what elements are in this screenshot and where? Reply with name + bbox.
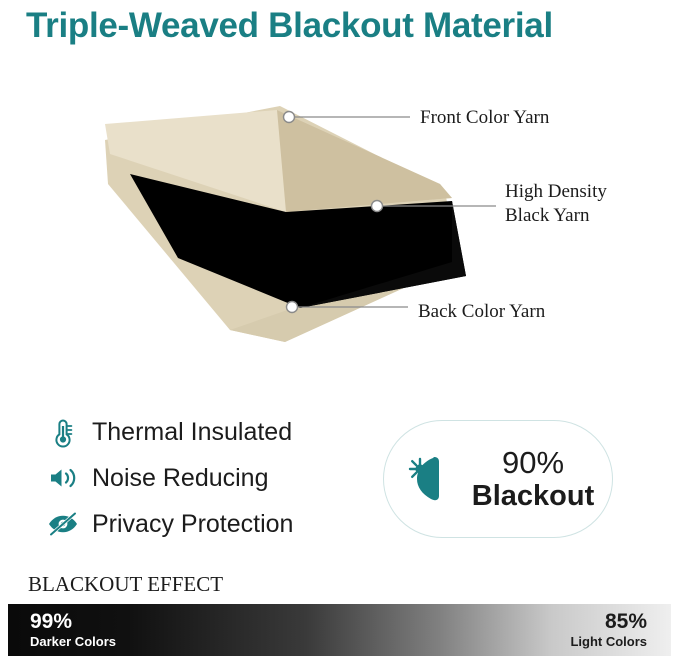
fabric-layers-diagram: Front Color Yarn High Density Black Yarn…	[0, 62, 679, 362]
gradient-bar-left-block: 99% Darker Colors	[30, 610, 116, 650]
blackout-effect-gradient-bar: 99% Darker Colors 85% Light Colors	[8, 604, 671, 656]
gradient-bar-left-percent: 99%	[30, 610, 116, 634]
feature-label-thermal: Thermal Insulated	[92, 418, 292, 447]
callout-label-front: Front Color Yarn	[420, 106, 549, 130]
feature-label-privacy: Privacy Protection	[92, 510, 293, 539]
blackout-effect-title: BLACKOUT EFFECT	[28, 572, 223, 597]
feature-item-privacy: Privacy Protection	[46, 502, 376, 546]
page-title: Triple-Weaved Blackout Material	[26, 0, 666, 52]
callout-label-high-density-line2: Black Yarn	[505, 204, 607, 228]
gradient-bar-left-sub: Darker Colors	[30, 634, 116, 650]
blackout-badge-text: 90% Blackout	[464, 446, 602, 512]
blackout-word: Blackout	[472, 480, 594, 512]
eye-slash-icon	[46, 507, 80, 541]
feature-item-thermal: Thermal Insulated	[46, 410, 376, 454]
sun-blocked-icon	[402, 451, 458, 507]
blackout-percent: 90%	[502, 445, 564, 480]
callout-label-high-density: High Density Black Yarn	[505, 180, 607, 228]
speaker-sound-icon	[46, 461, 80, 495]
thermometer-icon	[46, 415, 80, 449]
blackout-badge: 90% Blackout	[383, 420, 613, 538]
gradient-bar-right-sub: Light Colors	[570, 634, 647, 650]
callout-label-back: Back Color Yarn	[418, 300, 545, 324]
gradient-bar-right-percent: 85%	[570, 610, 647, 634]
gradient-bar-right-block: 85% Light Colors	[570, 610, 647, 650]
feature-label-noise: Noise Reducing	[92, 464, 269, 493]
feature-item-noise: Noise Reducing	[46, 456, 376, 500]
feature-list: Thermal Insulated Noise Reducing Privacy…	[46, 410, 376, 548]
callout-label-high-density-line1: High Density	[505, 180, 607, 204]
